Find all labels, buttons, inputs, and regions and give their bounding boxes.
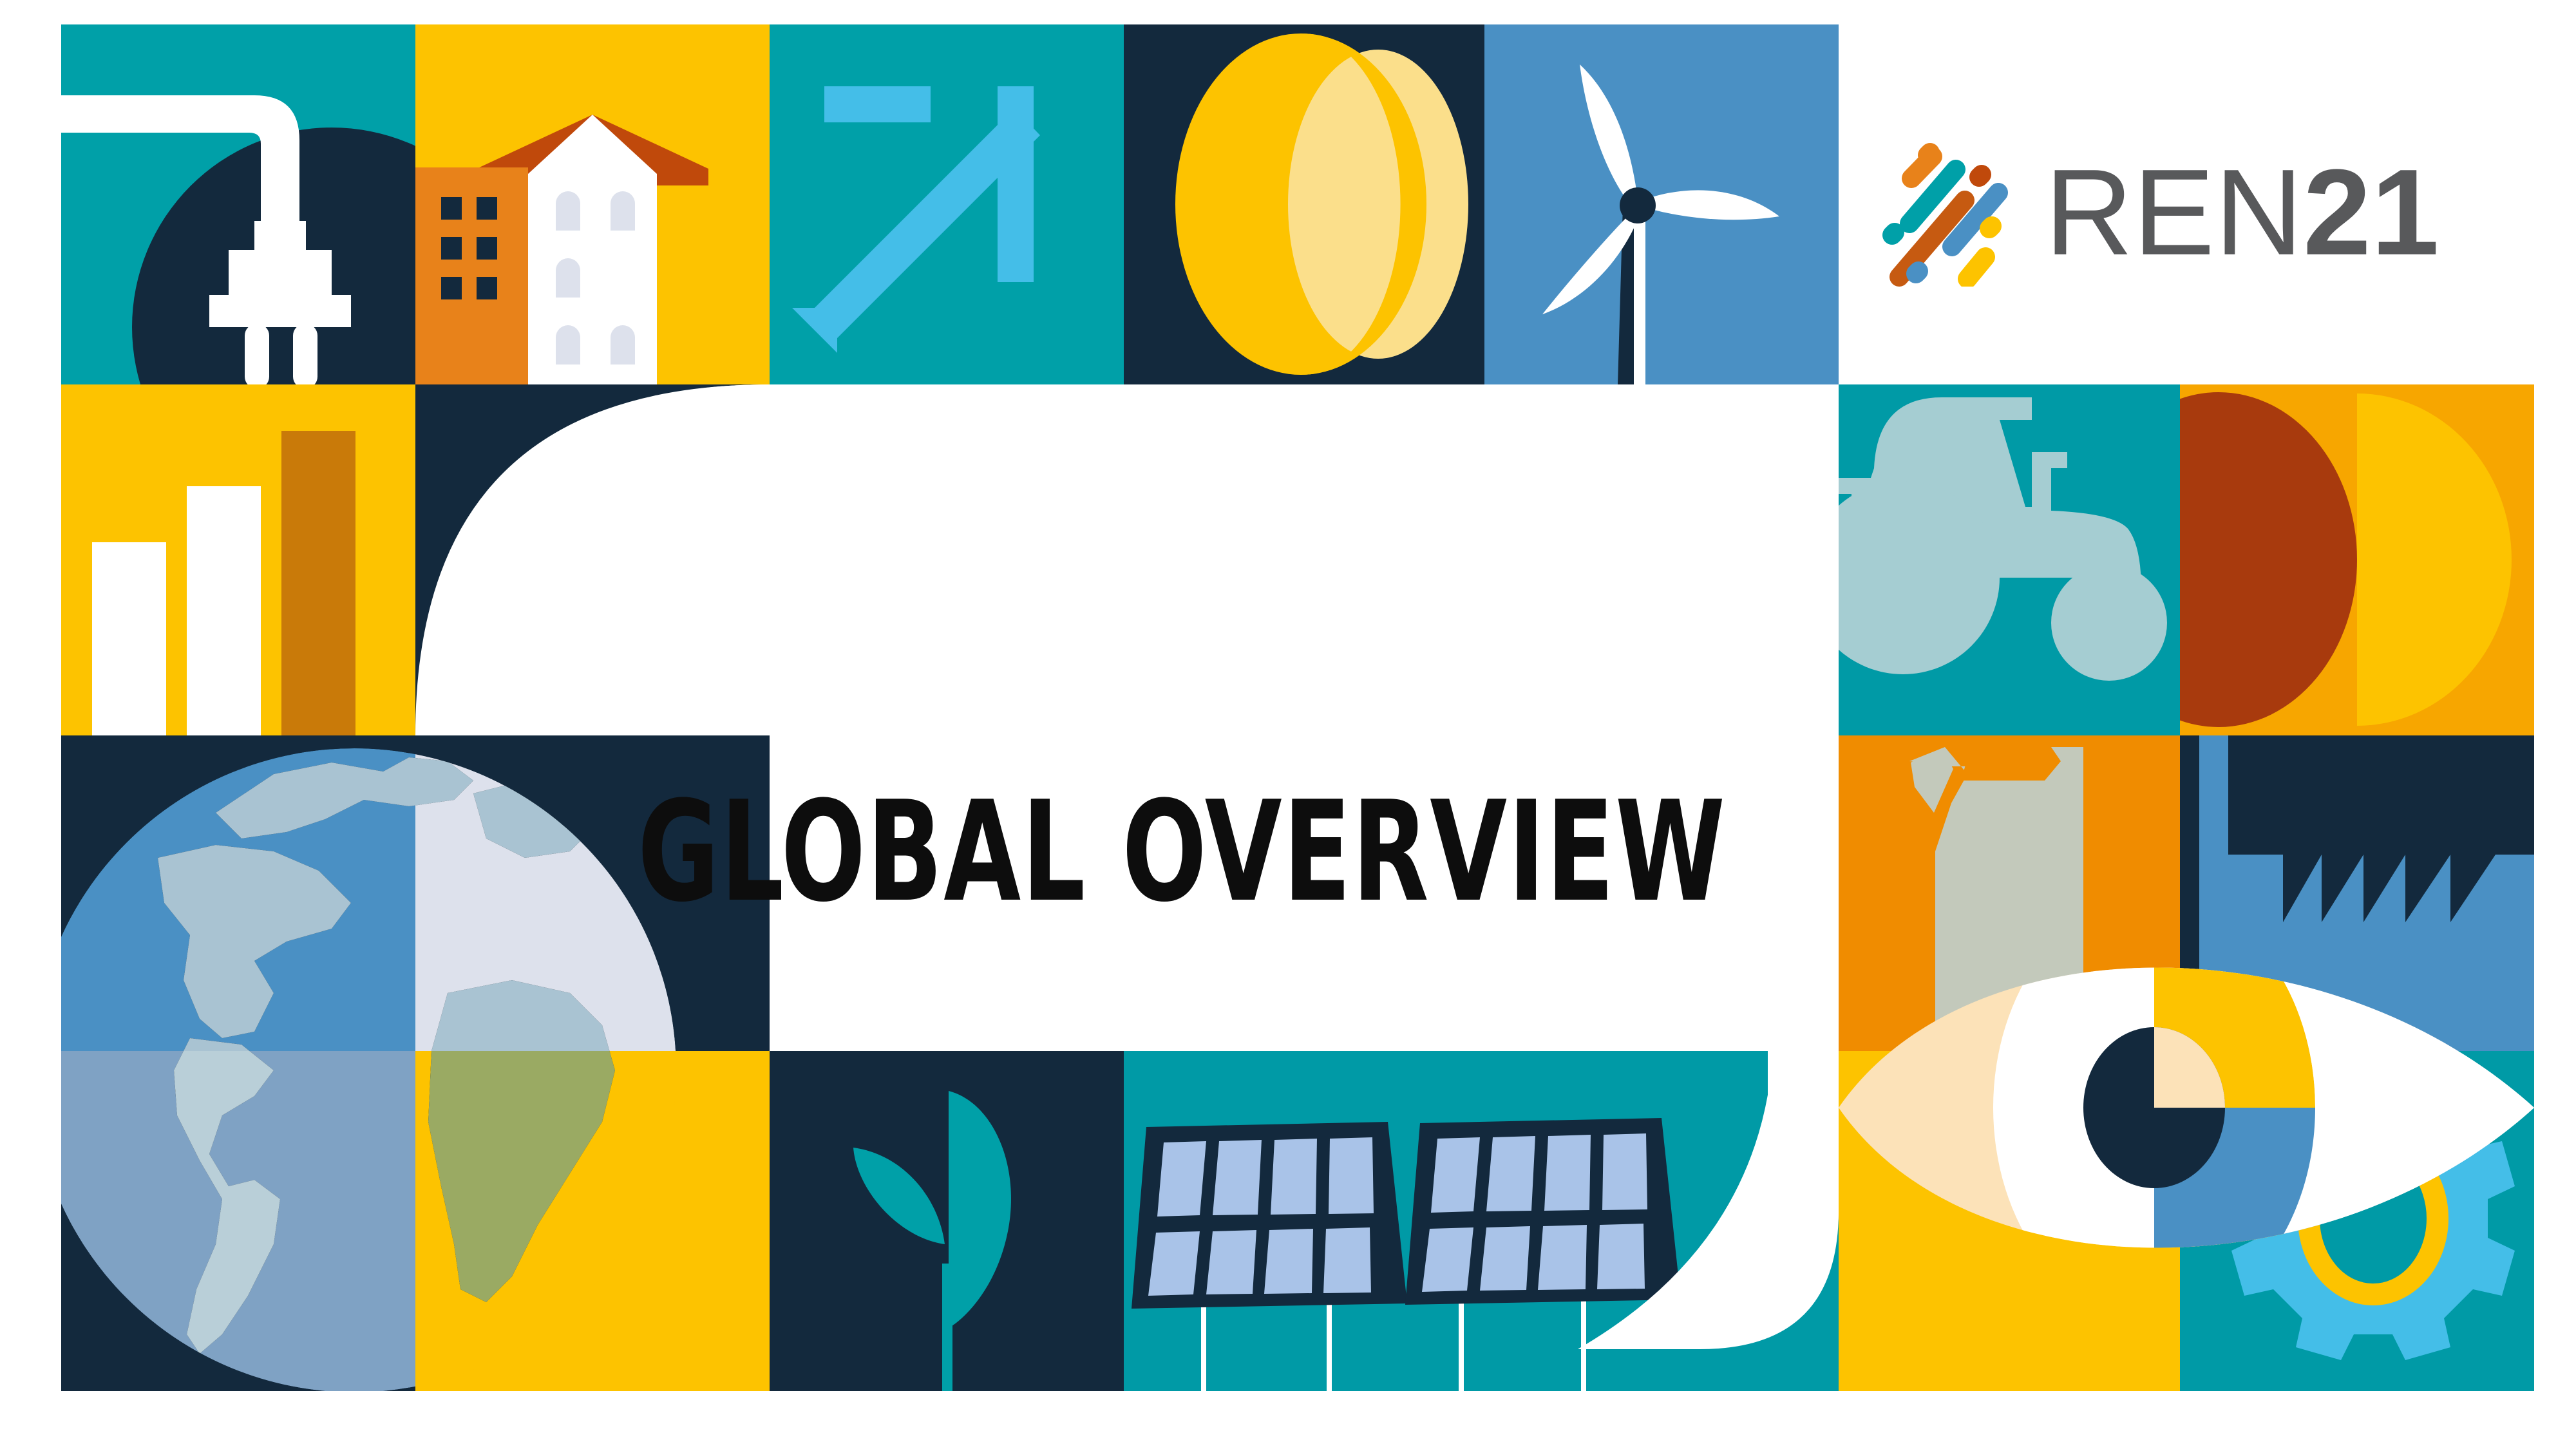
report-cover: RENEWABLES 2025 GLOBAL STATUS REPORT GLO…	[0, 0, 2576, 1449]
section-title: GLOBAL OVERVIEW	[638, 782, 1726, 921]
ren21-logo[interactable]: REN21	[1871, 138, 2439, 287]
ren21-mark-icon	[1871, 138, 2019, 287]
ren21-suffix: 21	[2303, 144, 2439, 281]
ren21-prefix: REN	[2045, 144, 2303, 281]
ren21-wordmark: REN21	[2045, 151, 2439, 274]
